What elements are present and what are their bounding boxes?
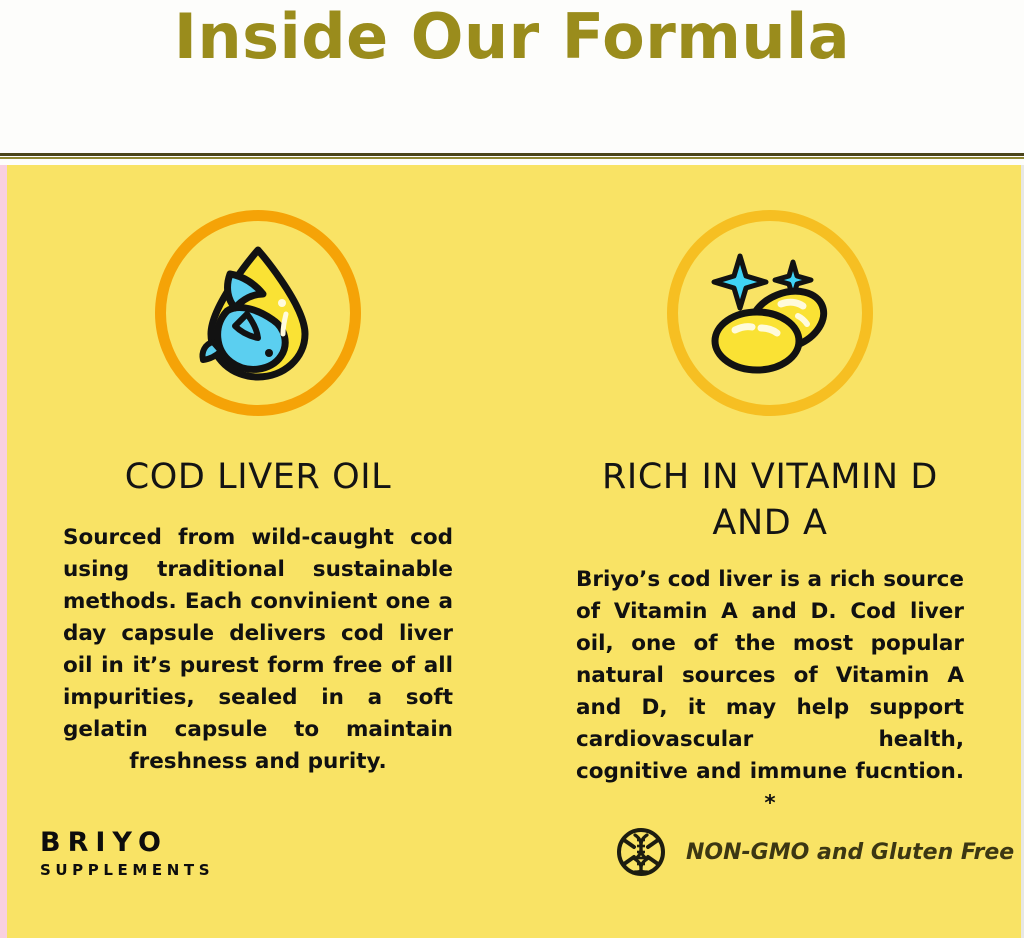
product-feature-page: Inside Our Formula [0,0,1024,938]
vitamin-softgel-capsules-icon [695,238,845,388]
brand-name: BRIYO [40,828,214,858]
non-gmo-badge: NON-GMO and Gluten Free [615,826,1014,878]
feature-title-vitamins: RICH IN VITAMIN D AND A [570,454,970,546]
brand-logo: BRIYO SUPPLEMENTS [40,828,214,880]
page-title: Inside Our Formula [0,0,1024,76]
non-gmo-badge-label: NON-GMO and Gluten Free [686,840,1014,865]
feature-body-vitamins: Briyo’s cod liver is a rich source of Vi… [576,564,964,820]
feature-column-cod-liver-oil: COD LIVER OIL Sourced from wild-caught c… [7,165,514,825]
divider-rule-dark [0,153,1024,156]
vitamin-icon-badge [667,210,873,416]
feature-body-cod-liver-oil: Sourced from wild-caught cod using tradi… [63,522,453,778]
feature-title-cod-liver-oil: COD LIVER OIL [125,454,392,500]
brand-subtitle: SUPPLEMENTS [40,860,214,880]
page-header: Inside Our Formula [0,0,1024,153]
cod-liver-oil-icon-badge [155,210,361,416]
panel-left-accent-stripe [0,165,7,938]
non-gmo-dna-icon [615,826,667,878]
feature-columns: COD LIVER OIL Sourced from wild-caught c… [7,165,1021,825]
divider-gap [0,159,1024,164]
feature-column-vitamins: RICH IN VITAMIN D AND A Briyo’s cod live… [514,165,1021,825]
panel-footer: BRIYO SUPPLEMENTS [7,828,1021,938]
cod-liver-oil-droplet-icon [183,238,333,388]
header-divider [0,153,1024,165]
feature-panel: COD LIVER OIL Sourced from wild-caught c… [0,165,1024,938]
